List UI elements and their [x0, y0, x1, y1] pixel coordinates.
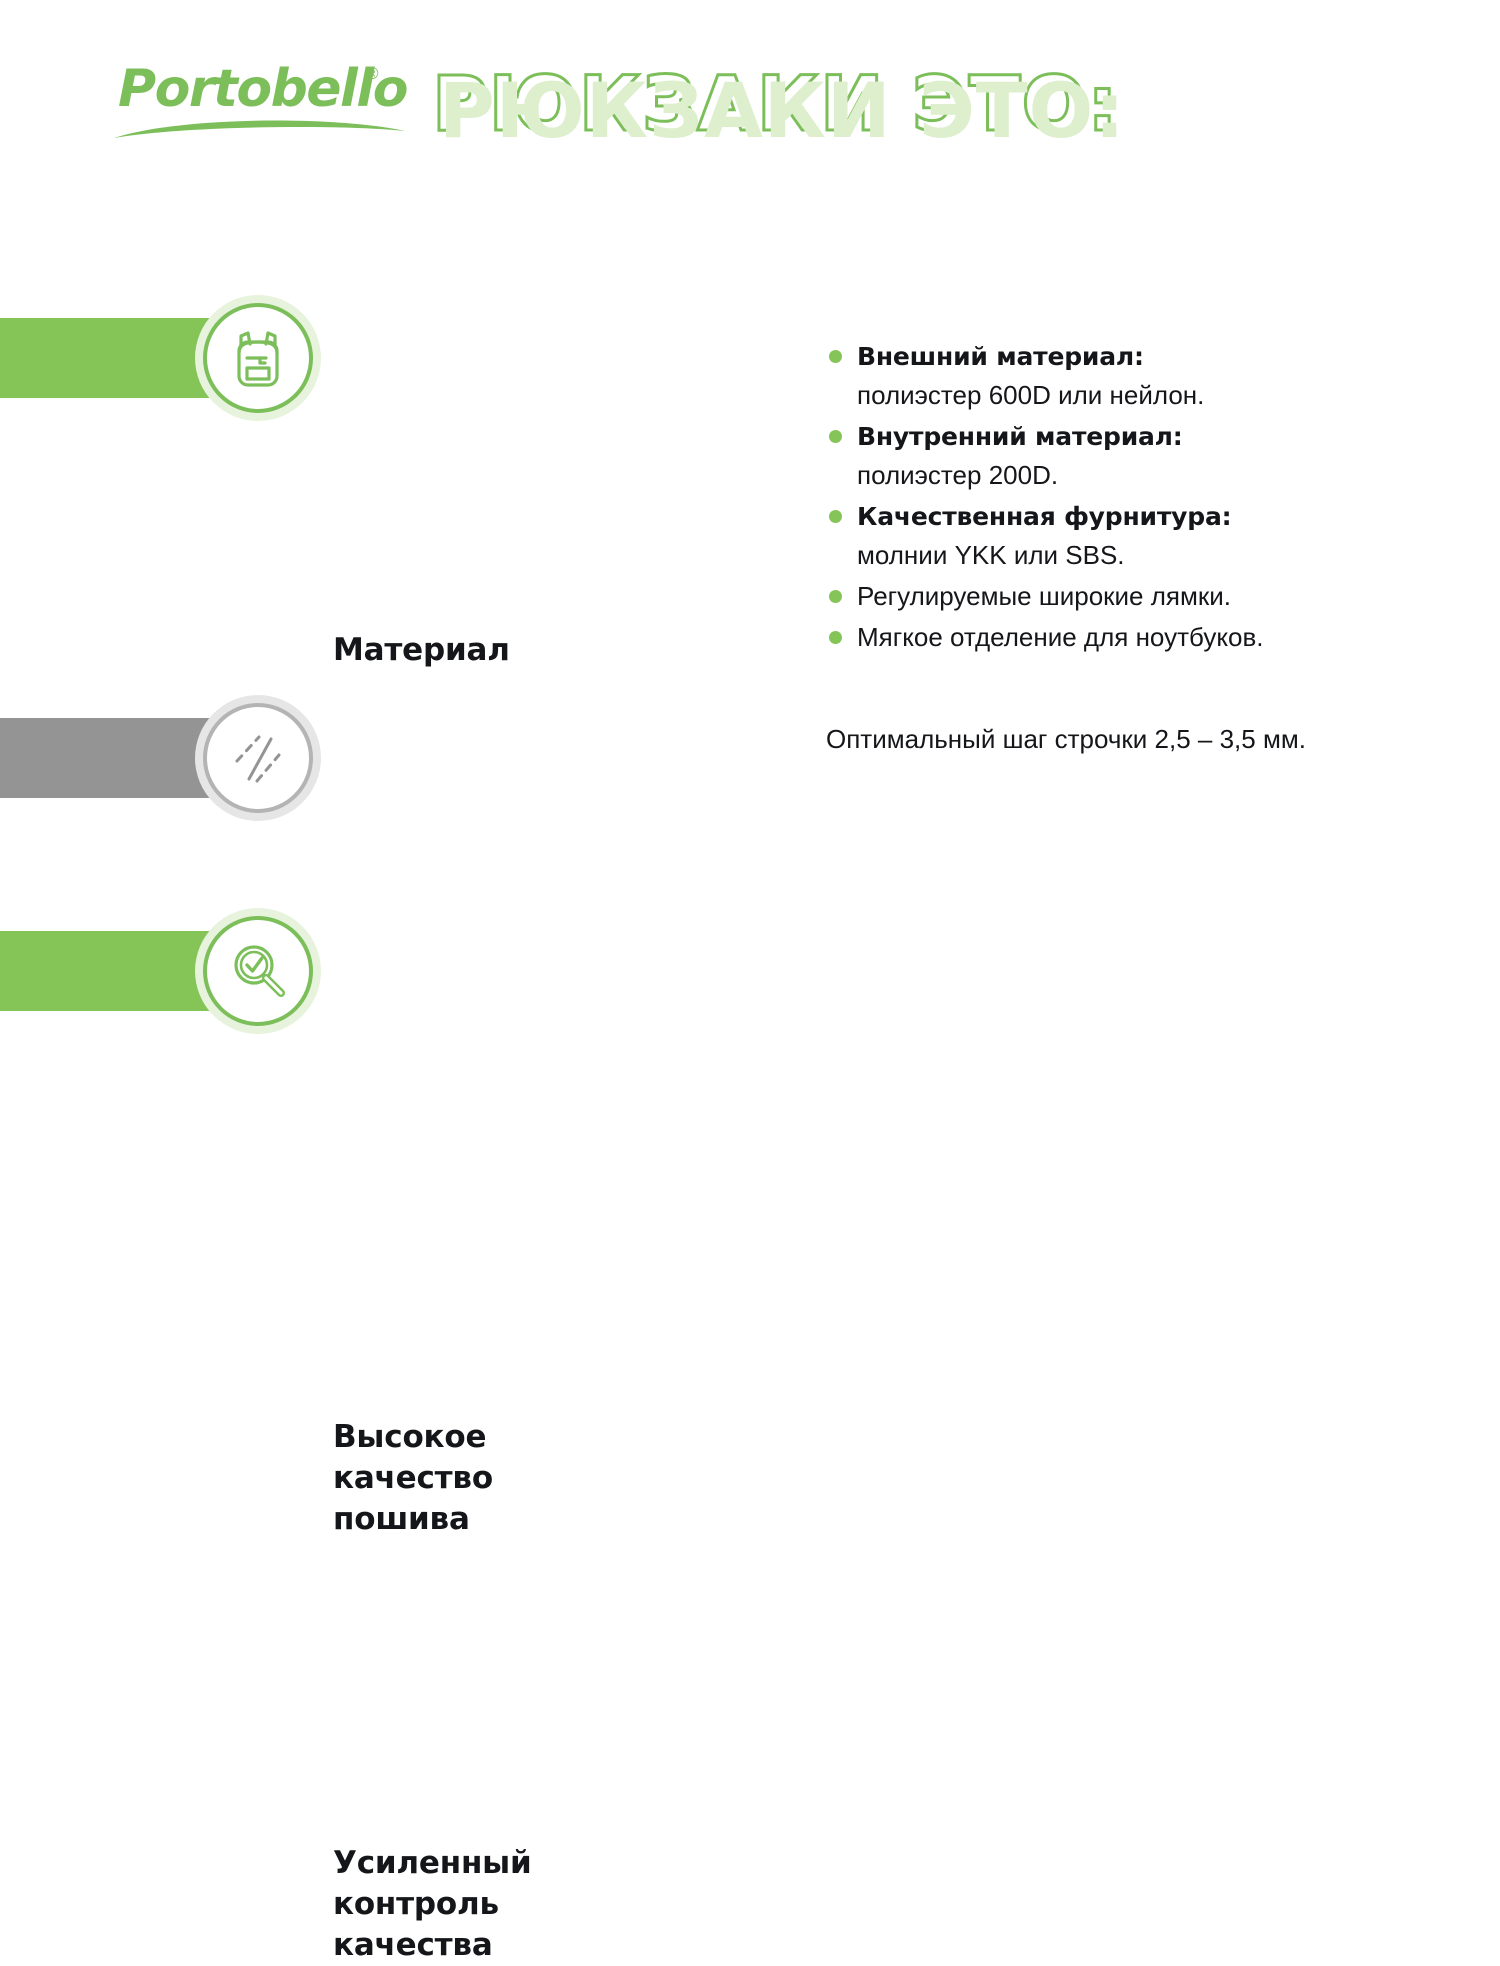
- brand-swoosh-icon: [112, 114, 407, 140]
- bullet-dot-icon: [829, 590, 842, 603]
- page-headline: РЮКЗАКИ ЭТО:: [432, 52, 1192, 156]
- bullet-sub: полиэстер 200D.: [857, 456, 1446, 495]
- stitching-note: Оптимальный шаг строчки 2,5 – 3,5 мм.: [826, 721, 1466, 757]
- bullet-text: Регулируемые широкие лямки.: [857, 577, 1446, 616]
- list-item: Мягкое отделение для ноутбуков.: [826, 618, 1446, 657]
- bullet-dot-icon: [829, 430, 842, 443]
- row-icon-disc: [203, 703, 313, 813]
- magnifier-check-icon: [225, 938, 291, 1004]
- brand-logo: Portobello ®: [118, 58, 403, 148]
- row-icon-disc: [203, 303, 313, 413]
- bullet-dot-icon: [829, 510, 842, 523]
- row-icon-disc: [203, 916, 313, 1026]
- bullet-sub: полиэстер 600D или нейлон.: [857, 376, 1446, 415]
- row-title: Высокое качество пошива: [333, 1417, 493, 1540]
- brand-wordmark: Portobello: [118, 58, 403, 120]
- list-item: Внутренний материал: полиэстер 200D.: [826, 417, 1446, 495]
- row-title: Усиленный контроль качества: [333, 1843, 532, 1966]
- list-item: Внешний материал: полиэстер 600D или ней…: [826, 337, 1446, 415]
- row-badge: [195, 295, 321, 421]
- headline-text: РЮКЗАКИ ЭТО:: [432, 52, 1192, 156]
- material-bullet-list: Внешний материал: полиэстер 600D или ней…: [826, 337, 1446, 659]
- page-header: Portobello ® РЮКЗАКИ ЭТО:: [0, 0, 1500, 190]
- bullet-lead: Качественная фурнитура:: [857, 497, 1446, 536]
- row-badge: [195, 908, 321, 1034]
- bullet-sub: молнии YKK или SBS.: [857, 536, 1446, 575]
- bullet-text: Мягкое отделение для ноутбуков.: [857, 618, 1446, 657]
- bullet-dot-icon: [829, 350, 842, 363]
- registered-mark-icon: ®: [366, 64, 379, 84]
- row-badge: [195, 695, 321, 821]
- list-item: Регулируемые широкие лямки.: [826, 577, 1446, 616]
- bullet-lead: Внешний материал:: [857, 337, 1446, 376]
- row-title: Материал: [333, 630, 510, 671]
- list-item: Качественная фурнитура: молнии YKK или S…: [826, 497, 1446, 575]
- backpack-icon: [225, 325, 291, 391]
- stitching-icon: [225, 725, 291, 791]
- bullet-lead: Внутренний материал:: [857, 417, 1446, 456]
- bullet-dot-icon: [829, 631, 842, 644]
